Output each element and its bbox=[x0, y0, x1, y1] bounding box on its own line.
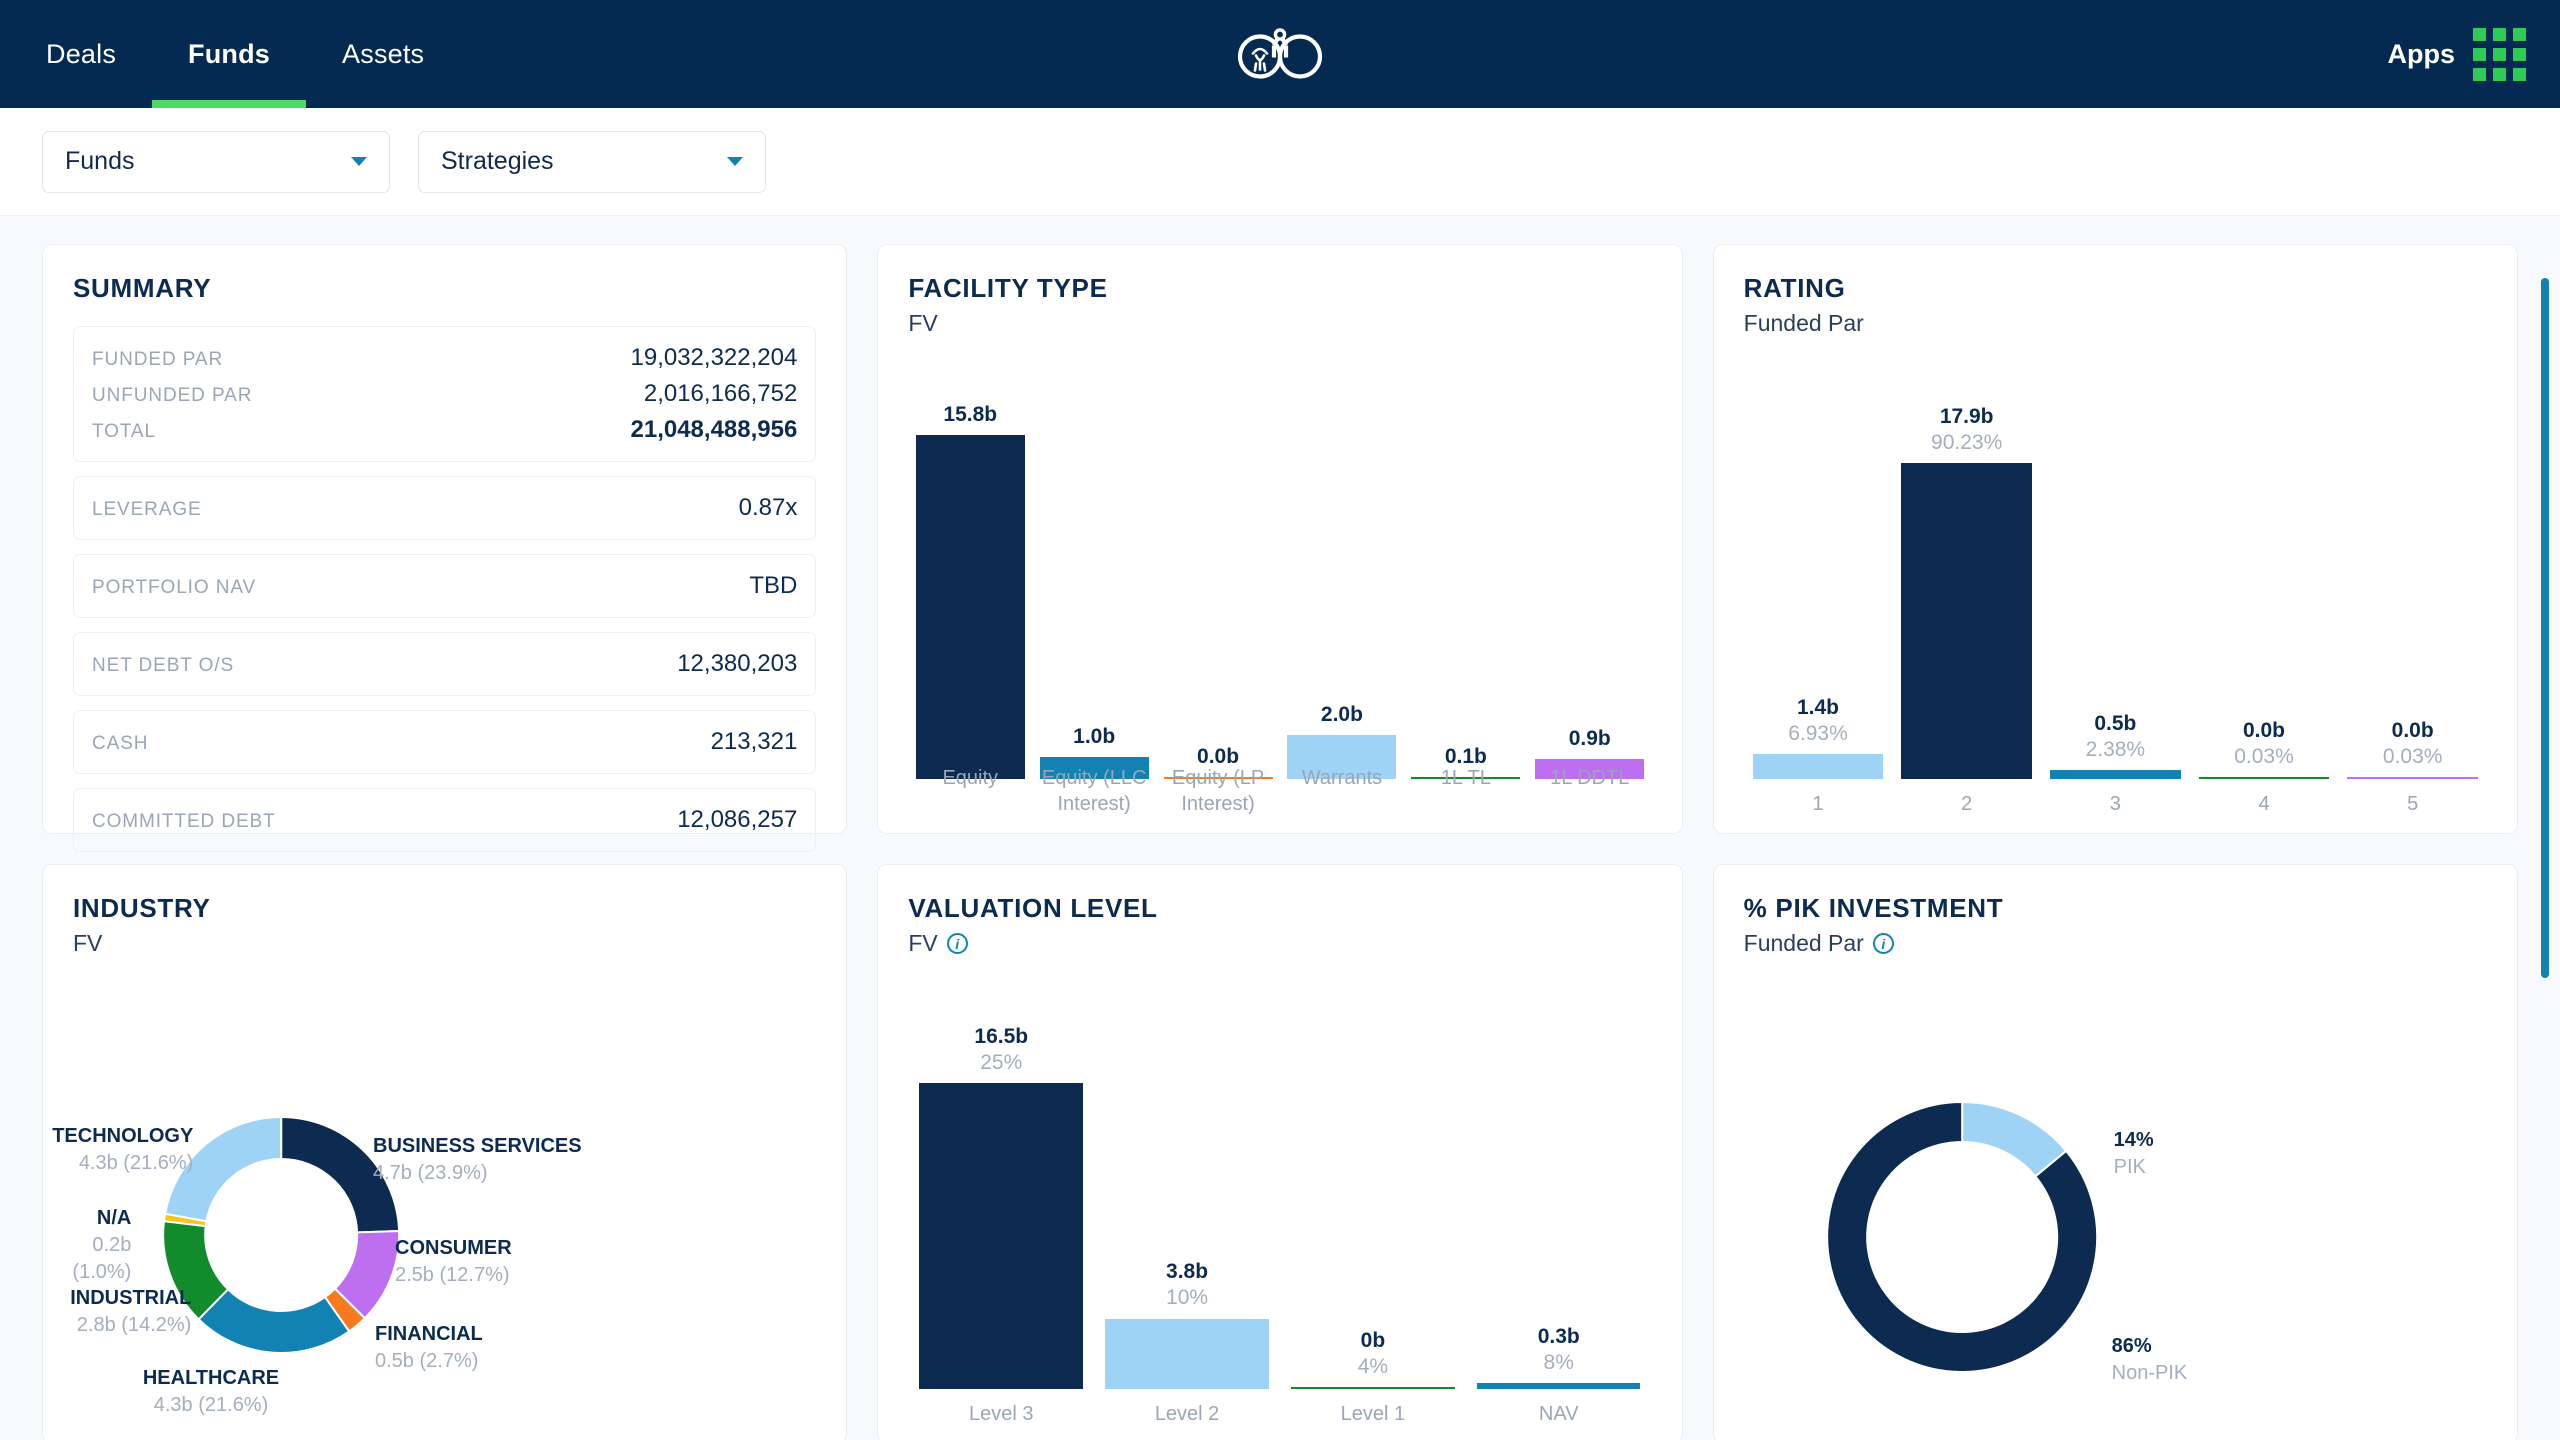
bar-value-label: 1.0b bbox=[1073, 724, 1115, 750]
bar-percent-label: 0.03% bbox=[2234, 744, 2294, 770]
nav-tabs: Deals Funds Assets bbox=[0, 0, 460, 108]
summary-title: SUMMARY bbox=[73, 273, 816, 304]
bar-label-group: 17.9b90.23% bbox=[1931, 404, 2002, 457]
chevron-down-icon bbox=[351, 157, 367, 166]
facility-type-xaxis: EquityEquity (LLC Interest)Equity (LP In… bbox=[908, 765, 1651, 817]
nav-tab-assets[interactable]: Assets bbox=[306, 0, 460, 108]
donut-label-value: Non-PIK bbox=[2112, 1360, 2188, 1387]
bar-column[interactable]: 1.0b bbox=[1032, 395, 1156, 779]
apps-button[interactable]: Apps bbox=[2388, 28, 2560, 81]
bar-value-label: 16.5b bbox=[974, 1024, 1028, 1050]
summary-row-key: TOTAL bbox=[92, 421, 156, 443]
bar-column[interactable]: 0.9b bbox=[1528, 395, 1652, 779]
facility-type-title: FACILITY TYPE bbox=[908, 273, 1651, 304]
summary-row-value: 213,321 bbox=[711, 728, 798, 756]
bar-value-label: 0.0b bbox=[2234, 718, 2294, 744]
donut-label-name: 14% bbox=[2114, 1127, 2154, 1154]
summary-row-value: TBD bbox=[749, 572, 797, 600]
strategies-filter-label: Strategies bbox=[441, 147, 554, 176]
summary-row: COMMITTED DEBT 12,086,257 bbox=[92, 802, 797, 838]
donut-label-name: BUSINESS SERVICES bbox=[373, 1133, 582, 1160]
bar-label-group: 0.9b bbox=[1569, 726, 1611, 752]
summary-group: LEVERAGE 0.87x bbox=[73, 476, 816, 540]
x-axis-tick-label: Level 1 bbox=[1280, 1401, 1466, 1427]
summary-row-key: PORTFOLIO NAV bbox=[92, 577, 256, 599]
bar-percent-label: 2.38% bbox=[2086, 737, 2146, 763]
page-scrollbar[interactable] bbox=[2541, 278, 2549, 978]
x-axis-tick-label: 1L DDTL bbox=[1528, 765, 1652, 817]
industry-donut: BUSINESS SERVICES4.7b (23.9%)CONSUMER2.5… bbox=[43, 865, 846, 1440]
bar-rect bbox=[1105, 1319, 1269, 1389]
donut-label-name: N/A bbox=[43, 1205, 131, 1232]
summary-row-key: COMMITTED DEBT bbox=[92, 811, 276, 833]
bar-percent-label: 25% bbox=[974, 1050, 1028, 1076]
x-axis-tick-label: 2 bbox=[1892, 791, 2041, 817]
donut-label-name: CONSUMER bbox=[395, 1235, 512, 1262]
apps-label: Apps bbox=[2388, 39, 2456, 70]
donut-label-name: INDUSTRIAL bbox=[70, 1285, 191, 1312]
bar-column[interactable]: 15.8b bbox=[908, 395, 1032, 779]
summary-row-value: 2,016,166,752 bbox=[644, 380, 797, 408]
summary-row-value: 0.87x bbox=[739, 494, 798, 522]
summary-row: FUNDED PAR 19,032,322,204 bbox=[92, 340, 797, 376]
bar-rect bbox=[2199, 777, 2330, 779]
bar-percent-label: 8% bbox=[1538, 1350, 1580, 1376]
bar-rect bbox=[1291, 1387, 1455, 1389]
valuation-level-subtitle: FV i bbox=[908, 930, 1651, 957]
bar-value-label: 1.4b bbox=[1788, 695, 1848, 721]
bar-label-group: 3.8b10% bbox=[1166, 1259, 1208, 1312]
bar-rect bbox=[1901, 463, 2032, 779]
pik-donut: 14%PIK86%Non-PIK bbox=[1714, 865, 2517, 1440]
donut-label-name: TECHNOLOGY bbox=[52, 1123, 193, 1150]
summary-row: TOTAL 21,048,488,956 bbox=[92, 412, 797, 448]
donut-callout-label: N/A0.2b (1.0%) bbox=[43, 1205, 131, 1286]
donut-callout-label: TECHNOLOGY4.3b (21.6%) bbox=[52, 1123, 193, 1177]
x-axis-tick-label: Equity bbox=[908, 765, 1032, 817]
summary-group: PORTFOLIO NAV TBD bbox=[73, 554, 816, 618]
bar-column[interactable]: 0.3b8% bbox=[1466, 1015, 1652, 1389]
rating-xaxis: 12345 bbox=[1744, 791, 2487, 817]
summary-row-key: NET DEBT O/S bbox=[92, 655, 234, 677]
x-axis-tick-label: 5 bbox=[2338, 791, 2487, 817]
x-axis-tick-label: Warrants bbox=[1280, 765, 1404, 817]
donut-label-value: 2.5b (12.7%) bbox=[395, 1262, 512, 1289]
summary-group: FUNDED PAR 19,032,322,204 UNFUNDED PAR 2… bbox=[73, 326, 816, 462]
bar-percent-label: 4% bbox=[1358, 1354, 1388, 1380]
bar-value-label: 2.0b bbox=[1321, 702, 1363, 728]
x-axis-tick-label: 1 bbox=[1744, 791, 1893, 817]
x-axis-tick-label: 4 bbox=[2190, 791, 2339, 817]
summary-row-key: FUNDED PAR bbox=[92, 349, 223, 371]
bar-label-group: 0.0b0.03% bbox=[2234, 718, 2294, 771]
info-icon[interactable]: i bbox=[947, 933, 968, 954]
donut-label-value: 4.3b (21.6%) bbox=[52, 1150, 193, 1177]
donut-callout-label: BUSINESS SERVICES4.7b (23.9%) bbox=[373, 1133, 582, 1187]
bar-series: 16.5b25%3.8b10%0b4%0.3b8% bbox=[908, 1015, 1651, 1389]
bar-value-label: 0.0b bbox=[2383, 718, 2443, 744]
bar-column[interactable]: 0.1b bbox=[1404, 395, 1528, 779]
valuation-level-chart: 16.5b25%3.8b10%0b4%0.3b8% bbox=[908, 1015, 1651, 1389]
facility-type-subtitle: FV bbox=[908, 310, 1651, 337]
donut-label-value: 0.2b (1.0%) bbox=[43, 1232, 131, 1286]
nav-tab-label: Deals bbox=[46, 39, 116, 70]
x-axis-tick-label: Level 3 bbox=[908, 1401, 1094, 1427]
nav-tab-deals[interactable]: Deals bbox=[10, 0, 152, 108]
nav-tab-label: Assets bbox=[342, 39, 424, 70]
donut-label-value: 0.5b (2.7%) bbox=[375, 1348, 483, 1375]
bar-column[interactable]: 1.4b6.93% bbox=[1744, 395, 1893, 779]
bar-value-label: 0.3b bbox=[1538, 1324, 1580, 1350]
valuation-level-subtitle-text: FV bbox=[908, 930, 937, 957]
pik-investment-card: % PIK INVESTMENT Funded Par i 14%PIK86%N… bbox=[1713, 864, 2518, 1440]
top-navigation-bar: Deals Funds Assets Apps bbox=[0, 0, 2560, 108]
industry-card: INDUSTRY FV BUSINESS SERVICES4.7b (23.9%… bbox=[42, 864, 847, 1440]
donut-callout-label: HEALTHCARE4.3b (21.6%) bbox=[143, 1365, 279, 1419]
donut-label-value: PIK bbox=[2114, 1154, 2154, 1181]
bar-column[interactable]: 0b4% bbox=[1280, 1015, 1466, 1389]
donut-label-value: 4.3b (21.6%) bbox=[143, 1392, 279, 1419]
rating-subtitle-text: Funded Par bbox=[1744, 310, 1864, 337]
bar-rect bbox=[919, 1083, 1083, 1389]
facility-type-chart: 15.8b1.0b0.0b2.0b0.1b0.9b bbox=[908, 395, 1651, 779]
bar-value-label: 0b bbox=[1358, 1328, 1388, 1354]
valuation-level-title: VALUATION LEVEL bbox=[908, 893, 1651, 924]
bar-label-group: 15.8b bbox=[943, 402, 997, 428]
bar-column[interactable]: 0.5b2.38% bbox=[2041, 395, 2190, 779]
summary-row: UNFUNDED PAR 2,016,166,752 bbox=[92, 376, 797, 412]
summary-row-value: 21,048,488,956 bbox=[631, 416, 798, 444]
summary-row-value: 12,380,203 bbox=[677, 650, 797, 678]
bar-column[interactable]: 0.0b0.03% bbox=[2338, 395, 2487, 779]
summary-row-key: LEVERAGE bbox=[92, 499, 202, 521]
bar-rect bbox=[2050, 770, 2181, 779]
facility-type-card: FACILITY TYPE FV 15.8b1.0b0.0b2.0b0.1b0.… bbox=[877, 244, 1682, 834]
bar-percent-label: 90.23% bbox=[1931, 430, 2002, 456]
rating-chart: 1.4b6.93%17.9b90.23%0.5b2.38%0.0b0.03%0.… bbox=[1744, 395, 2487, 779]
bar-rect bbox=[916, 435, 1025, 779]
bar-value-label: 3.8b bbox=[1166, 1259, 1208, 1285]
bar-percent-label: 0.03% bbox=[2383, 744, 2443, 770]
summary-group: CASH 213,321 bbox=[73, 710, 816, 774]
summary-row-value: 19,032,322,204 bbox=[631, 344, 798, 372]
summary-row: CASH 213,321 bbox=[92, 724, 797, 760]
bar-rect bbox=[1477, 1383, 1641, 1389]
bar-value-label: 17.9b bbox=[1931, 404, 2002, 430]
bar-label-group: 1.4b6.93% bbox=[1788, 695, 1848, 748]
bar-column[interactable]: 3.8b10% bbox=[1094, 1015, 1280, 1389]
valuation-level-xaxis: Level 3Level 2Level 1NAV bbox=[908, 1401, 1651, 1427]
valuation-level-card: VALUATION LEVEL FV i 16.5b25%3.8b10%0b4%… bbox=[877, 864, 1682, 1440]
bar-percent-label: 6.93% bbox=[1788, 721, 1848, 747]
donut-callout-label: FINANCIAL0.5b (2.7%) bbox=[375, 1321, 483, 1375]
bar-rect bbox=[1753, 754, 1884, 779]
bar-series: 15.8b1.0b0.0b2.0b0.1b0.9b bbox=[908, 395, 1651, 779]
chevron-down-icon bbox=[727, 157, 743, 166]
bar-value-label: 0.5b bbox=[2086, 711, 2146, 737]
rating-subtitle: Funded Par bbox=[1744, 310, 2487, 337]
bar-column[interactable]: 0.0b bbox=[1156, 395, 1280, 779]
summary-card: SUMMARY FUNDED PAR 19,032,322,204 UNFUND… bbox=[42, 244, 847, 834]
apps-grid-icon bbox=[2473, 28, 2526, 81]
donut-label-name: FINANCIAL bbox=[375, 1321, 483, 1348]
donut-callout-label: INDUSTRIAL2.8b (14.2%) bbox=[70, 1285, 191, 1339]
donut-slice[interactable] bbox=[199, 1289, 350, 1353]
bar-column[interactable]: 16.5b25% bbox=[908, 1015, 1094, 1389]
rating-title: RATING bbox=[1744, 273, 2487, 304]
facility-type-subtitle-text: FV bbox=[908, 310, 937, 337]
bar-series: 1.4b6.93%17.9b90.23%0.5b2.38%0.0b0.03%0.… bbox=[1744, 395, 2487, 779]
bar-column[interactable]: 17.9b90.23% bbox=[1892, 395, 2041, 779]
x-axis-tick-label: Equity (LLC Interest) bbox=[1032, 765, 1156, 817]
summary-row-value: 12,086,257 bbox=[677, 806, 797, 834]
bar-label-group: 0.3b8% bbox=[1538, 1324, 1580, 1377]
x-axis-tick-label: NAV bbox=[1466, 1401, 1652, 1427]
summary-group: COMMITTED DEBT 12,086,257 bbox=[73, 788, 816, 852]
summary-group: NET DEBT O/S 12,380,203 bbox=[73, 632, 816, 696]
donut-label-value: 4.7b (23.9%) bbox=[373, 1160, 582, 1187]
funds-filter-label: Funds bbox=[65, 147, 134, 176]
x-axis-tick-label: Level 2 bbox=[1094, 1401, 1280, 1427]
filter-bar: Funds Strategies bbox=[0, 108, 2560, 216]
bar-label-group: 16.5b25% bbox=[974, 1024, 1028, 1077]
summary-row-key: UNFUNDED PAR bbox=[92, 385, 252, 407]
donut-label-name: 86% bbox=[2112, 1333, 2188, 1360]
bar-label-group: 0.5b2.38% bbox=[2086, 711, 2146, 764]
bar-percent-label: 10% bbox=[1166, 1285, 1208, 1311]
summary-row: NET DEBT O/S 12,380,203 bbox=[92, 646, 797, 682]
summary-row: PORTFOLIO NAV TBD bbox=[92, 568, 797, 604]
rating-card: RATING Funded Par 1.4b6.93%17.9b90.23%0.… bbox=[1713, 244, 2518, 834]
nav-tab-label: Funds bbox=[188, 39, 270, 70]
donut-callout-label: CONSUMER2.5b (12.7%) bbox=[395, 1235, 512, 1289]
summary-row: LEVERAGE 0.87x bbox=[92, 490, 797, 526]
nav-tab-funds[interactable]: Funds bbox=[152, 0, 306, 108]
bar-label-group: 0b4% bbox=[1358, 1328, 1388, 1381]
funds-filter-dropdown[interactable]: Funds bbox=[42, 131, 390, 193]
bar-rect bbox=[2347, 777, 2478, 779]
bar-value-label: 15.8b bbox=[943, 402, 997, 428]
x-axis-tick-label: 3 bbox=[2041, 791, 2190, 817]
summary-row-key: CASH bbox=[92, 733, 148, 755]
donut-label-name: HEALTHCARE bbox=[143, 1365, 279, 1392]
binoculars-logo-icon[interactable] bbox=[1234, 24, 1326, 85]
strategies-filter-dropdown[interactable]: Strategies bbox=[418, 131, 766, 193]
donut-callout-label: 86%Non-PIK bbox=[2112, 1333, 2188, 1387]
donut-callout-label: 14%PIK bbox=[2114, 1127, 2154, 1181]
bar-value-label: 0.9b bbox=[1569, 726, 1611, 752]
x-axis-tick-label: 1L TL bbox=[1404, 765, 1528, 817]
bar-label-group: 0.0b0.03% bbox=[2383, 718, 2443, 771]
donut-label-value: 2.8b (14.2%) bbox=[70, 1312, 191, 1339]
x-axis-tick-label: Equity (LP Interest) bbox=[1156, 765, 1280, 817]
summary-list: FUNDED PAR 19,032,322,204 UNFUNDED PAR 2… bbox=[73, 326, 816, 852]
bar-label-group: 2.0b bbox=[1321, 702, 1363, 728]
bar-column[interactable]: 0.0b0.03% bbox=[2190, 395, 2339, 779]
dashboard-grid: SUMMARY FUNDED PAR 19,032,322,204 UNFUND… bbox=[0, 216, 2560, 1440]
bar-column[interactable]: 2.0b bbox=[1280, 395, 1404, 779]
bar-label-group: 1.0b bbox=[1073, 724, 1115, 750]
